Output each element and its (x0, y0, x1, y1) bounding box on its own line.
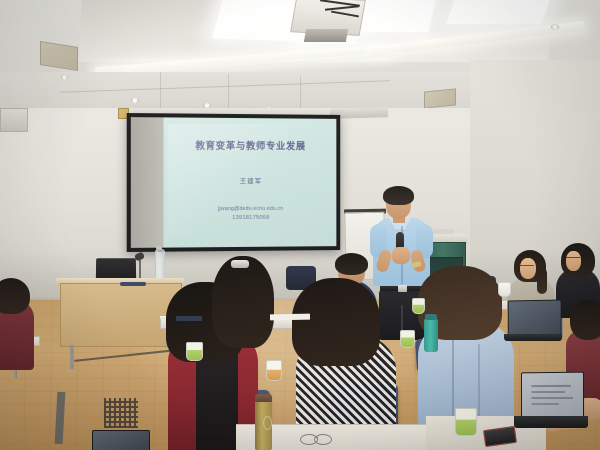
chair-basket (104, 398, 138, 428)
projector-lens (304, 29, 348, 42)
attendee-glasses (519, 265, 534, 270)
ceiling-light-panel (446, 0, 553, 24)
podium-leg (70, 345, 74, 369)
attendee-hair (212, 256, 274, 348)
attendee-hair (292, 278, 380, 366)
speaker-hands (392, 247, 410, 264)
screen-glare (168, 123, 288, 234)
attendee-glasses (339, 268, 363, 273)
attendee-laptop-screen (92, 430, 150, 450)
speaker-belt-buckle (398, 285, 407, 292)
projection-screen-surface: 教育变革与教师专业发展 王建军 jjwang@dedu.ecnu.edu.cn … (131, 117, 337, 248)
podium-desk (60, 283, 182, 347)
thermos-teal (424, 318, 438, 352)
drink-cup (400, 330, 415, 348)
attendee-hair (0, 278, 30, 314)
paper-sheet (270, 314, 310, 321)
attendee-tablet-screen (521, 372, 584, 421)
projection-screen: 教育变革与教师专业发展 王建军 jjwang@dedu.ecnu.edu.cn … (127, 113, 341, 252)
attendee-laptop-keyboard (504, 334, 562, 341)
document-line (532, 403, 559, 405)
ceiling-downlight (131, 98, 139, 103)
drink-cup (266, 360, 282, 381)
podium-laptop-screen (96, 258, 136, 280)
attendee-hair (570, 300, 600, 340)
attendee-ponytail (537, 268, 547, 294)
drink-cup (498, 282, 511, 297)
speaker-glasses (387, 199, 410, 205)
drink-cup (455, 408, 477, 436)
drink-cup (412, 298, 425, 314)
document-line (532, 397, 573, 399)
document-line (532, 391, 565, 393)
eyeglasses-on-table (314, 434, 332, 445)
classroom-photo: 教育变革与教师专业发展 王建军 jjwang@dedu.ecnu.edu.cn … (0, 0, 600, 450)
document-line (532, 385, 571, 387)
ceiling-air-vent (424, 88, 456, 108)
attendee-tablet-keyboard (514, 416, 588, 428)
wall-speaker-mount (0, 108, 28, 132)
ceiling-downlight (61, 75, 68, 80)
thermos-strap-loop (263, 416, 272, 430)
thermos-cap (255, 394, 272, 402)
hair-clip (231, 260, 249, 268)
notebook (176, 316, 202, 321)
attendee-laptop-screen (508, 299, 562, 338)
screen-blank-margin (131, 117, 164, 248)
water-bottle-cap (156, 246, 162, 250)
drink-cup (186, 342, 203, 361)
ceiling-downlight (551, 24, 559, 30)
eyeglasses-bridge (315, 437, 318, 438)
podium-chair-back (120, 282, 146, 286)
thermos-teal-cap (425, 314, 437, 320)
attendee-glasses (565, 257, 580, 262)
ceiling-seam (60, 80, 390, 93)
